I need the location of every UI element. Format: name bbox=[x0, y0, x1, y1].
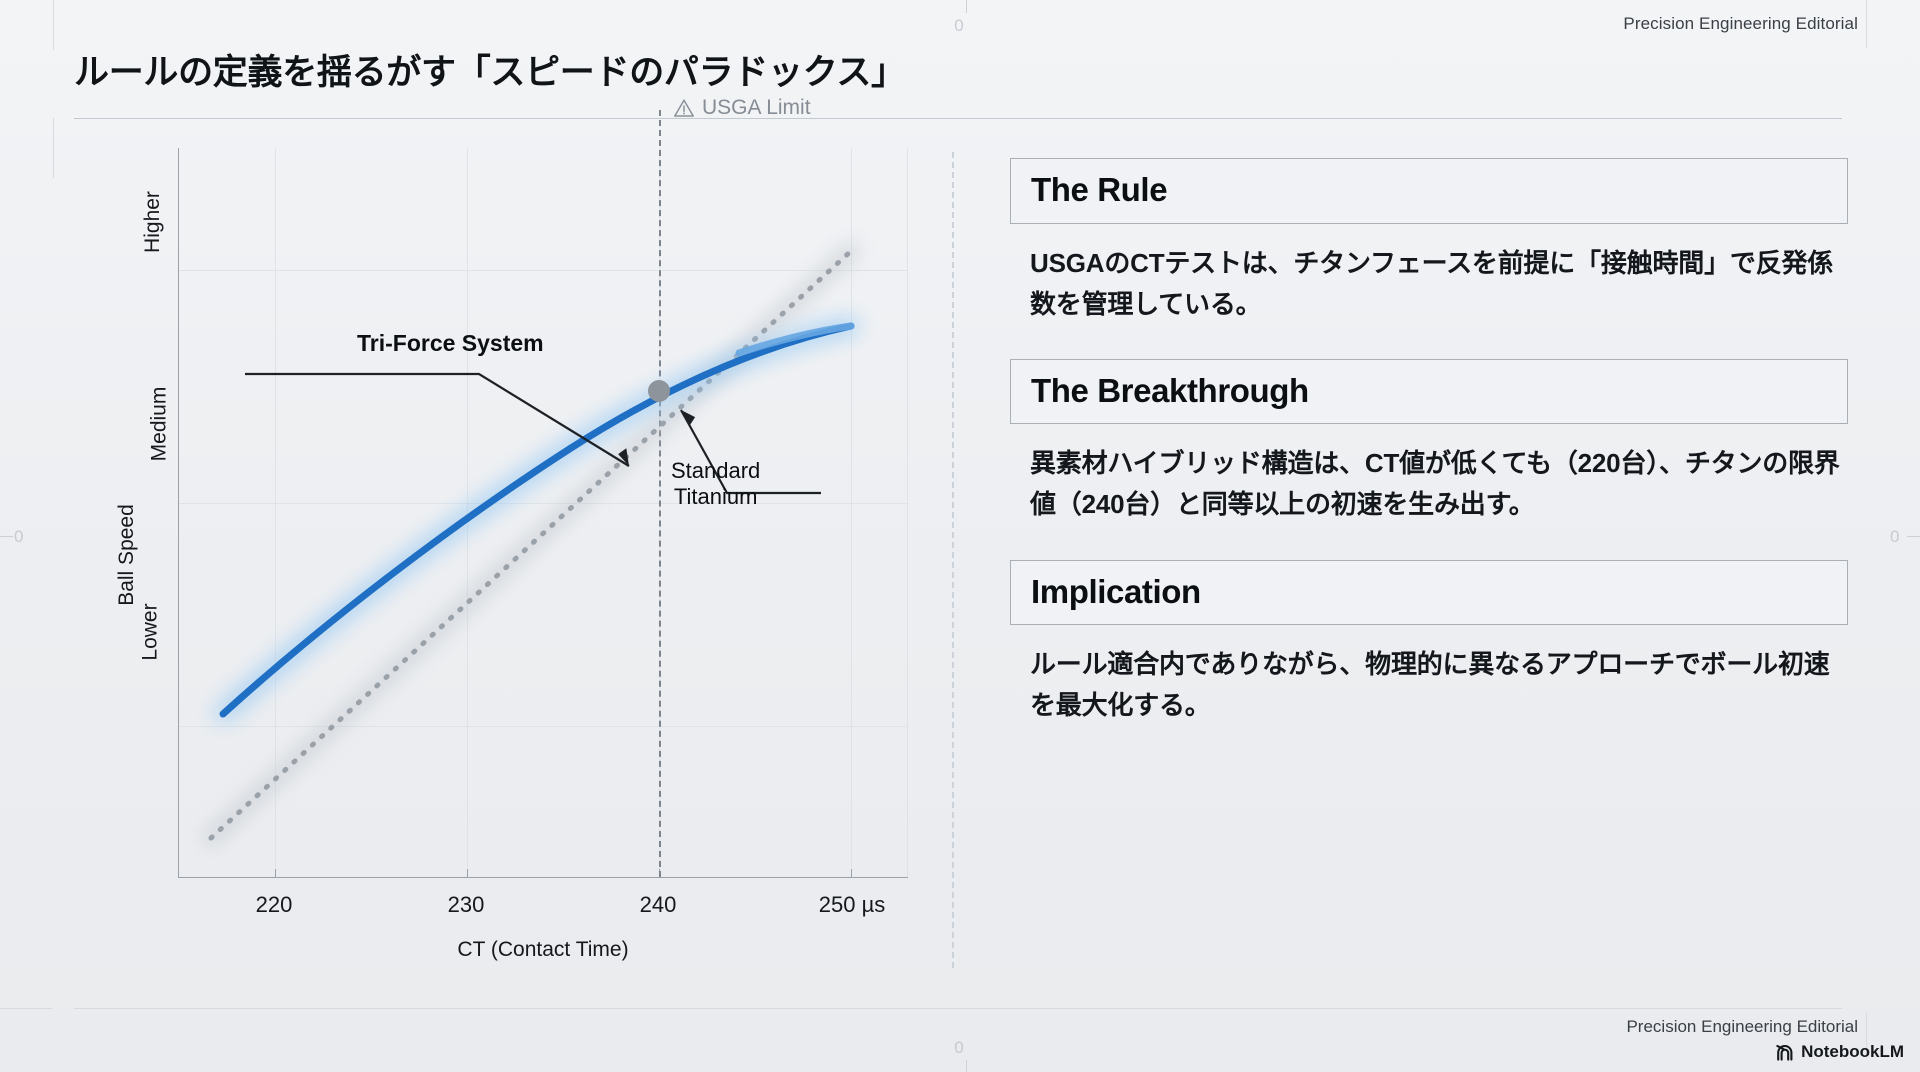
annotation-standard-titanium-line2: Titanium bbox=[671, 484, 760, 510]
notebooklm-label: NotebookLM bbox=[1801, 1042, 1904, 1062]
card-the-rule-header: The Rule bbox=[1010, 158, 1848, 224]
crop-guide-top-left-v bbox=[53, 0, 54, 50]
x-tick-label-230: 230 bbox=[448, 892, 485, 918]
annotation-standard-titanium: Standard Titanium bbox=[671, 458, 760, 511]
card-implication-header: Implication bbox=[1010, 560, 1848, 626]
y-tick-label-higher: Higher bbox=[141, 191, 165, 253]
card-the-rule-body: USGAのCTテストは、チタンフェースを前提に「接触時間」で反発係数を管理してい… bbox=[1010, 243, 1848, 325]
plot-area: USGA Limit bbox=[178, 148, 908, 878]
y-tick-label-medium: Medium bbox=[147, 387, 171, 462]
tri-force-system-curve bbox=[223, 326, 851, 714]
card-implication: Implication ルール適合内でありながら、物理的に異なるアプローチでボー… bbox=[1010, 560, 1848, 727]
usga-limit-label: USGA Limit bbox=[702, 96, 811, 120]
main-content: Ball Speed Higher Medium Lower bbox=[0, 140, 1920, 1000]
x-tick-label-240: 240 bbox=[640, 892, 677, 918]
registration-tick-bottom bbox=[966, 1060, 967, 1072]
annotation-tri-force-system: Tri-Force System bbox=[357, 330, 544, 357]
warning-triangle-icon bbox=[673, 98, 695, 118]
chart-curves bbox=[179, 148, 909, 878]
notebooklm-attribution: NotebookLM bbox=[1775, 1042, 1904, 1062]
crop-guide-top-right-v bbox=[1866, 0, 1867, 48]
header-brand-label: Precision Engineering Editorial bbox=[1623, 14, 1858, 34]
card-the-breakthrough-body: 異素材ハイブリッド構造は、CT値が低くても（220台）、チタンの限界値（240台… bbox=[1010, 443, 1848, 525]
x-axis-title: CT (Contact Time) bbox=[178, 938, 908, 962]
card-the-rule: The Rule USGAのCTテストは、チタンフェースを前提に「接触時間」で反… bbox=[1010, 158, 1848, 325]
registration-tick-top bbox=[966, 0, 967, 13]
registration-mark-bottom: 0 bbox=[954, 1038, 963, 1058]
title-divider bbox=[74, 118, 1842, 119]
insight-cards: The Rule USGAのCTテストは、チタンフェースを前提に「接触時間」で反… bbox=[1010, 158, 1848, 726]
crop-guide-bottom-left-h bbox=[0, 1008, 52, 1009]
standard-titanium-marker bbox=[648, 380, 670, 402]
card-implication-heading: Implication bbox=[1031, 574, 1827, 610]
column-divider bbox=[952, 152, 954, 968]
y-axis-title: Ball Speed bbox=[115, 504, 139, 606]
card-the-breakthrough-header: The Breakthrough bbox=[1010, 359, 1848, 425]
chart-ct-vs-ball-speed: Ball Speed Higher Medium Lower bbox=[60, 140, 940, 970]
footer-brand-label: Precision Engineering Editorial bbox=[1626, 1017, 1858, 1037]
footer-divider bbox=[74, 1008, 1842, 1009]
notebooklm-logo-icon bbox=[1775, 1043, 1795, 1062]
y-axis-tick-higher: Higher bbox=[122, 210, 184, 234]
page-title: ルールの定義を揺るがす「スピードのパラドックス」 bbox=[74, 44, 906, 95]
card-the-rule-heading: The Rule bbox=[1031, 172, 1827, 208]
y-tick-label-lower: Lower bbox=[139, 603, 163, 660]
y-axis-tick-lower: Lower bbox=[122, 620, 179, 644]
card-implication-body: ルール適合内でありながら、物理的に異なるアプローチでボール初速を最大化する。 bbox=[1010, 644, 1848, 726]
usga-limit-badge: USGA Limit bbox=[673, 96, 811, 120]
annotation-standard-titanium-line1: Standard bbox=[671, 458, 760, 484]
registration-mark-top: 0 bbox=[954, 16, 963, 36]
slide-canvas: 0 0 0 0 Precision Engineering Editorial … bbox=[0, 0, 1920, 1072]
card-the-breakthrough: The Breakthrough 異素材ハイブリッド構造は、CT値が低くても（2… bbox=[1010, 359, 1848, 526]
x-tick-label-220: 220 bbox=[256, 892, 293, 918]
tri-force-glow bbox=[223, 326, 851, 714]
x-tick-label-250: 250 µs bbox=[819, 892, 886, 918]
card-the-breakthrough-heading: The Breakthrough bbox=[1031, 373, 1827, 409]
